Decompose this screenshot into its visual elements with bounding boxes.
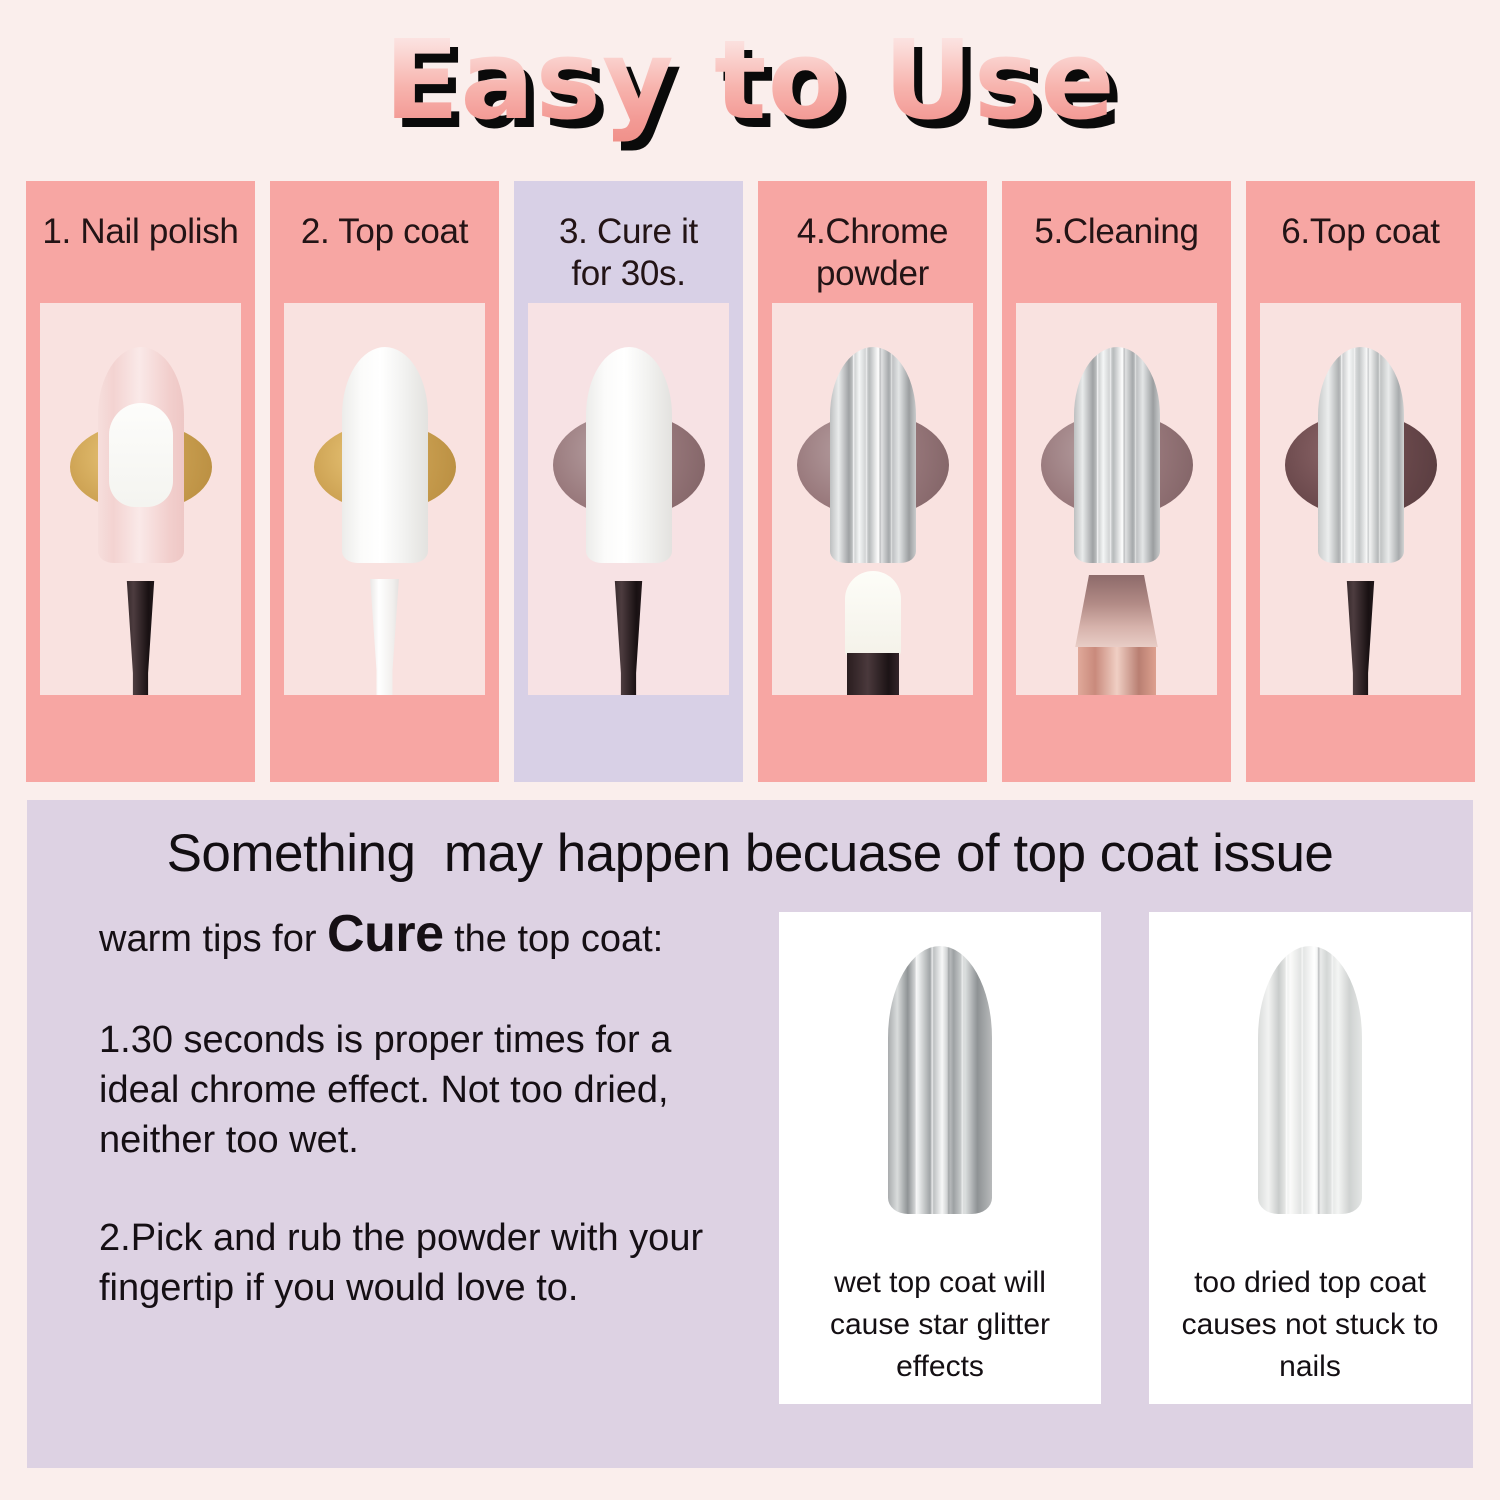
step-card-4: 4.Chrome powder xyxy=(758,181,987,782)
step-photo-1 xyxy=(40,303,241,695)
title-text: Easy to Use Easy to Use xyxy=(384,24,1116,136)
compare-card-dried: too dried top coat causes not stuck to n… xyxy=(1149,912,1471,1404)
step-card-3: 3. Cure it for 30s. xyxy=(514,181,743,782)
step-card-2: 2. Top coat xyxy=(270,181,499,782)
compare-nail-area-wet xyxy=(779,912,1101,1262)
white-topcoat-brush-icon xyxy=(365,579,405,695)
step-card-6: 6.Top coat xyxy=(1246,181,1475,782)
tips-lead-keyword: Cure xyxy=(327,905,443,963)
compare-card-wet: wet top coat will cause star glitter eff… xyxy=(779,912,1101,1404)
brush-ferrule xyxy=(1078,647,1156,695)
tips-lead-after: the top coat: xyxy=(444,918,664,960)
page-title: Easy to Use Easy to Use xyxy=(0,24,1500,144)
brush-bristles xyxy=(1074,575,1160,647)
step-photo-3 xyxy=(528,303,729,695)
tips-lead: warm tips for Cure the top coat: xyxy=(99,910,759,963)
step-photo-6 xyxy=(1260,303,1461,695)
applicator-fluff xyxy=(845,571,901,657)
tip-item-1: 1.30 seconds is proper times for a ideal… xyxy=(99,1015,759,1165)
nail-white-cured xyxy=(586,347,672,563)
tips-lead-before: warm tips for xyxy=(99,918,327,960)
step-photo-4 xyxy=(772,303,973,695)
panel-headline: Something may happen becuase of top coat… xyxy=(27,824,1473,884)
tip-item-2: 2.Pick and rub the powder with your fing… xyxy=(99,1213,759,1313)
compare-nail-area-dried xyxy=(1149,912,1471,1262)
step-label-1: 1. Nail polish xyxy=(35,211,246,253)
fan-brush-icon xyxy=(1069,575,1165,695)
step-label-5: 5.Cleaning xyxy=(1011,211,1222,253)
black-polish-brush-icon xyxy=(610,581,648,695)
chrome-streaks xyxy=(1318,347,1404,563)
nail-chrome-topcoated xyxy=(1318,347,1404,563)
black-polish-brush-icon xyxy=(122,581,160,695)
white-polish-blob xyxy=(109,403,173,507)
nail-chrome-cleaned xyxy=(1074,347,1160,563)
step-photo-2 xyxy=(284,303,485,695)
step-photo-5 xyxy=(1016,303,1217,695)
chrome-streaks xyxy=(1258,946,1362,1214)
tips-panel: Something may happen becuase of top coat… xyxy=(27,800,1473,1468)
nail-pearl-white xyxy=(1258,946,1362,1214)
nail-silver-chrome xyxy=(888,946,992,1214)
tips-column: warm tips for Cure the top coat: 1.30 se… xyxy=(99,910,759,1470)
nail-white-coated xyxy=(342,347,428,563)
applicator-handle xyxy=(847,653,899,695)
step-label-6: 6.Top coat xyxy=(1255,211,1466,253)
powder-applicator-icon xyxy=(845,571,901,695)
panel-body: warm tips for Cure the top coat: 1.30 se… xyxy=(27,910,1473,1470)
step-label-3: 3. Cure it for 30s. xyxy=(523,211,734,295)
step-card-5: 5.Cleaning xyxy=(1002,181,1231,782)
step-label-4: 4.Chrome powder xyxy=(767,211,978,295)
title-front-layer: Easy to Use xyxy=(384,16,1116,144)
step-label-2: 2. Top coat xyxy=(279,211,490,253)
black-polish-brush-icon xyxy=(1342,581,1380,695)
compare-caption-dried: too dried top coat causes not stuck to n… xyxy=(1149,1262,1471,1404)
nail-chrome xyxy=(830,347,916,563)
chrome-streaks xyxy=(1074,347,1160,563)
chrome-streaks xyxy=(830,347,916,563)
chrome-streaks xyxy=(888,946,992,1214)
steps-row: 1. Nail polish 2. Top coat 3. Cure it fo… xyxy=(26,181,1475,782)
compare-cards: wet top coat will cause star glitter eff… xyxy=(779,910,1471,1470)
step-card-1: 1. Nail polish xyxy=(26,181,255,782)
compare-caption-wet: wet top coat will cause star glitter eff… xyxy=(779,1262,1101,1404)
